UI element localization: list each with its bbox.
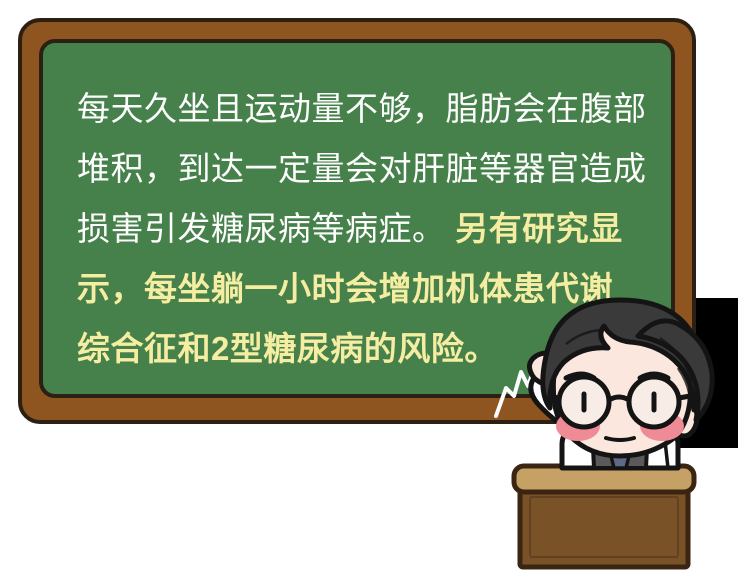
chalk-segment-emphasis: 综合征和2型糖尿病的风险。 [77, 330, 498, 367]
chalk-segment-emphasis: 另有研究显 [446, 210, 623, 247]
chalk-segment: 堆积，到达一定量会对肝脏等器官造成 [77, 150, 647, 187]
chalk-segment: 损害引发糖尿病等病症。 [77, 210, 446, 247]
illustration-canvas: 每天久坐且运动量不够，脂肪会在腹部 堆积，到达一定量会对肝脏等器官造成 损害引发… [0, 0, 750, 575]
chalk-line-3: 损害引发糖尿病等病症。 另有研究显 [77, 199, 661, 259]
mouth [606, 438, 634, 440]
doctor-character-illustration [488, 292, 750, 575]
podium [514, 466, 694, 567]
chalk-line-1: 每天久坐且运动量不够，脂肪会在腹部 [77, 79, 661, 139]
chalk-segment: 每天久坐且运动量不够，脂肪会在腹部 [77, 90, 647, 127]
chalk-line-2: 堆积，到达一定量会对肝脏等器官造成 [77, 139, 661, 199]
character-head [543, 300, 712, 456]
